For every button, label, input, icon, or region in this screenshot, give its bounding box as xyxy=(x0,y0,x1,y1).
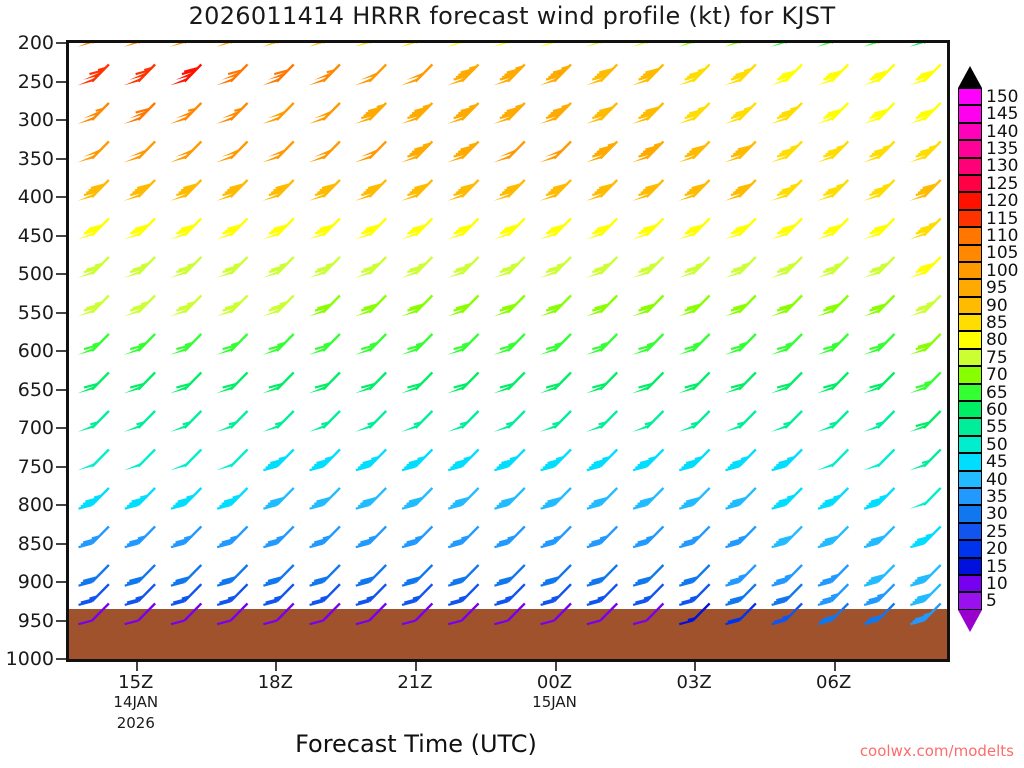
y-axis-label: 350 xyxy=(18,148,54,170)
colorbar-swatch xyxy=(958,123,982,140)
barb-row-250 xyxy=(78,64,941,85)
plot-area xyxy=(66,40,950,662)
page-title: 2026011414 HRRR forecast wind profile (k… xyxy=(0,2,1024,30)
barb-row-450 xyxy=(78,218,941,239)
y-axis-tick xyxy=(56,504,66,506)
y-axis-label: 450 xyxy=(18,225,54,247)
x-axis-date-label: 14JAN xyxy=(113,693,158,711)
barb-row-650 xyxy=(78,372,941,393)
x-axis-label: 03Z xyxy=(676,672,711,693)
barb-row-800 xyxy=(79,488,941,509)
x-axis-tick xyxy=(694,662,696,671)
y-axis: 2002503003504004505005506006507007508008… xyxy=(0,40,66,662)
y-axis-tick xyxy=(56,81,66,83)
colorbar-swatch xyxy=(958,192,982,209)
y-axis-label: 1000 xyxy=(6,648,54,670)
y-axis-label: 750 xyxy=(18,456,54,478)
colorbar-swatch xyxy=(958,297,982,314)
colorbar-swatch xyxy=(958,436,982,453)
barb-row-600 xyxy=(78,334,941,355)
barb-row-750 xyxy=(78,449,941,470)
credit-watermark: coolwx.com/modelts xyxy=(860,742,1014,760)
barb-row-550 xyxy=(78,295,941,316)
y-axis-label: 500 xyxy=(18,263,54,285)
colorbar-over-arrow xyxy=(958,66,982,88)
colorbar-swatch xyxy=(958,592,982,609)
y-axis-tick xyxy=(56,389,66,391)
y-axis-tick xyxy=(56,350,66,352)
colorbar-swatch xyxy=(958,488,982,505)
y-axis-label: 850 xyxy=(18,533,54,555)
barb-row-700 xyxy=(78,411,941,432)
colorbar xyxy=(958,88,982,610)
y-axis-tick xyxy=(56,273,66,275)
y-axis-label: 900 xyxy=(18,571,54,593)
y-axis-tick xyxy=(56,42,66,44)
y-axis-tick xyxy=(56,581,66,583)
colorbar-swatch xyxy=(958,366,982,383)
colorbar-swatch xyxy=(958,158,982,175)
x-axis-tick xyxy=(415,662,417,671)
colorbar-swatch xyxy=(958,349,982,366)
colorbar-swatch xyxy=(958,262,982,279)
barb-row-925 xyxy=(79,584,941,605)
colorbar-swatch xyxy=(958,418,982,435)
x-axis-tick xyxy=(834,662,836,671)
y-axis-tick xyxy=(56,235,66,237)
x-axis-tick xyxy=(136,662,138,671)
colorbar-swatch xyxy=(958,105,982,122)
x-axis-date-label: 15JAN xyxy=(532,693,577,711)
barb-row-900 xyxy=(79,565,941,586)
y-axis-tick xyxy=(56,119,66,121)
x-axis-label: 15Z xyxy=(118,672,153,693)
y-axis-tick xyxy=(56,658,66,660)
colorbar-swatch xyxy=(958,140,982,157)
y-axis-label: 800 xyxy=(18,494,54,516)
colorbar-swatch xyxy=(958,210,982,227)
colorbar-swatch xyxy=(958,453,982,470)
y-axis-label: 250 xyxy=(18,71,54,93)
wind-profile-chart: 2026011414 HRRR forecast wind profile (k… xyxy=(0,0,1024,768)
y-axis-label: 300 xyxy=(18,109,54,131)
y-axis-tick xyxy=(56,620,66,622)
barb-row-400 xyxy=(78,180,941,201)
y-axis-tick xyxy=(56,543,66,545)
colorbar-swatch xyxy=(958,575,982,592)
barb-row-850 xyxy=(79,526,941,547)
y-axis-tick xyxy=(56,312,66,314)
colorbar-swatch xyxy=(958,175,982,192)
y-axis-tick xyxy=(56,158,66,160)
x-axis-label: 21Z xyxy=(397,672,432,693)
y-axis-label: 600 xyxy=(18,340,54,362)
x-axis-label: 06Z xyxy=(816,672,851,693)
y-axis-tick xyxy=(56,466,66,468)
x-axis-label: 18Z xyxy=(258,672,293,693)
barb-row-950 xyxy=(79,603,941,624)
y-axis-label: 650 xyxy=(18,379,54,401)
colorbar-tick-label: 5 xyxy=(986,591,997,611)
barb-row-200 xyxy=(78,43,941,47)
y-axis-label: 550 xyxy=(18,302,54,324)
colorbar-under-arrow xyxy=(958,610,982,632)
barb-row-500 xyxy=(78,257,941,278)
colorbar-swatch xyxy=(958,471,982,488)
colorbar-swatch xyxy=(958,314,982,331)
barb-row-350 xyxy=(78,141,941,162)
wind-barb-field xyxy=(69,43,947,659)
colorbar-swatch xyxy=(958,401,982,418)
x-axis-label: 00Z xyxy=(537,672,572,693)
y-axis-label: 400 xyxy=(18,186,54,208)
colorbar-swatch xyxy=(958,245,982,262)
x-axis-tick xyxy=(555,662,557,671)
y-axis-label: 200 xyxy=(18,32,54,54)
colorbar-swatch xyxy=(958,279,982,296)
colorbar-swatch xyxy=(958,558,982,575)
y-axis-tick xyxy=(56,196,66,198)
colorbar-swatch xyxy=(958,523,982,540)
colorbar-swatch xyxy=(958,227,982,244)
x-axis-tick xyxy=(275,662,277,671)
colorbar-swatch xyxy=(958,88,982,105)
x-axis-title: Forecast Time (UTC) xyxy=(66,730,766,758)
colorbar-swatch xyxy=(958,384,982,401)
y-axis-label: 950 xyxy=(18,610,54,632)
barb-row-300 xyxy=(78,103,941,124)
colorbar-swatch xyxy=(958,505,982,522)
y-axis-tick xyxy=(56,427,66,429)
y-axis-label: 700 xyxy=(18,417,54,439)
colorbar-swatch xyxy=(958,331,982,348)
colorbar-swatch xyxy=(958,540,982,557)
